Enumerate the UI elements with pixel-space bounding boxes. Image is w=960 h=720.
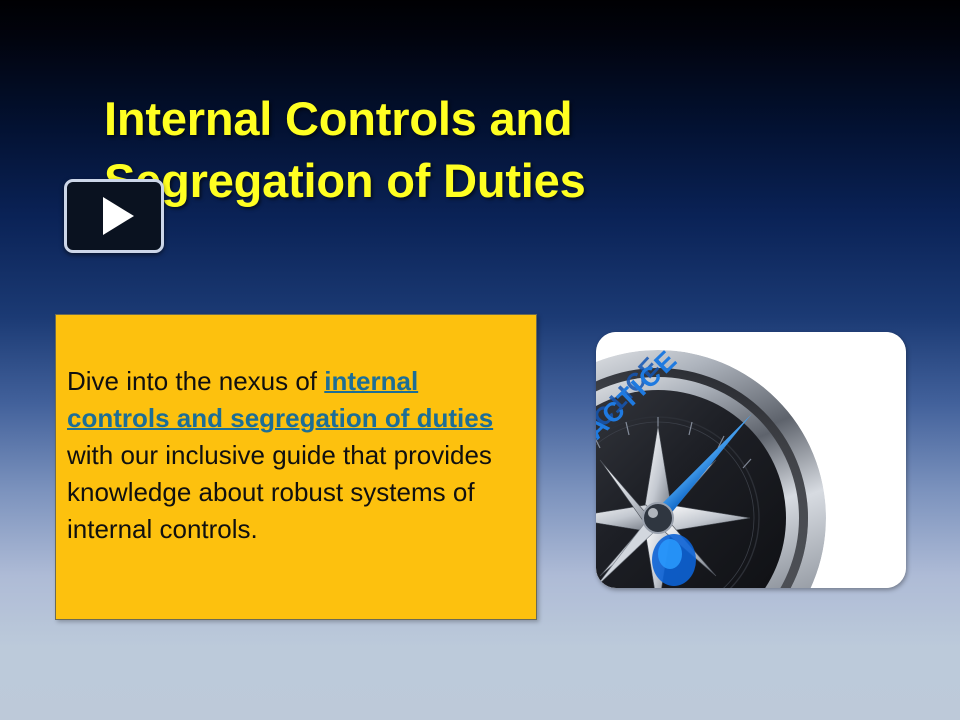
description-lead: Dive into the nexus of [67, 366, 324, 396]
description-text: Dive into the nexus of internal controls… [67, 363, 499, 548]
description-card: Dive into the nexus of internal controls… [55, 314, 537, 620]
compass-image-card: BEST PRACTICE BEST PRACTICE [596, 332, 906, 588]
description-tail: with our inclusive guide that provides k… [67, 440, 492, 544]
page-title: Internal Controls and Segregation of Dut… [104, 88, 804, 212]
compass-best-practice-image: BEST PRACTICE BEST PRACTICE [596, 332, 906, 588]
play-video-button[interactable] [64, 179, 164, 253]
play-triangle-icon [103, 197, 134, 235]
presentation-slide: Internal Controls and Segregation of Dut… [0, 0, 960, 720]
